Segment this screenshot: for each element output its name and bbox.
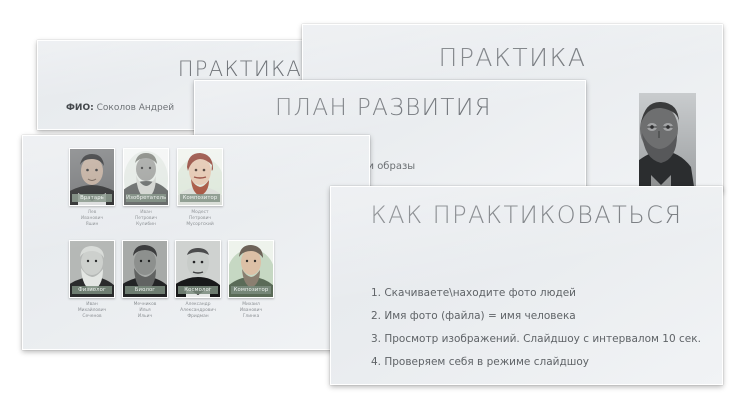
slide-title: ПЛАН РАЗВИТИЯ (275, 95, 492, 121)
howto-list: 1. Скачиваете\находите фото людей 2. Имя… (371, 282, 710, 374)
slide-title: ПРАКТИКА (303, 43, 722, 72)
photo-caption: Модест Петрович Мусоргский (186, 210, 213, 228)
photo-grid: Вратарь Лев Иванович Яшин (69, 148, 351, 323)
photo-frame: Вратарь (69, 148, 115, 206)
photo-cell[interactable]: Композитор Михаил Иванович Глинка (228, 240, 274, 320)
photo-caption: Михаил Иванович Глинка (240, 302, 262, 320)
list-item: 3. Просмотр изображений. Слайдшоу с инте… (371, 328, 710, 351)
photo-frame: Изобретатель (123, 148, 169, 206)
slide-photo-grid[interactable]: Вратарь Лев Иванович Яшин (22, 135, 370, 350)
photo-tag: Физиолог (72, 286, 112, 294)
photo-frame: Космолог (175, 240, 221, 298)
photo-frame: Композитор (228, 240, 274, 298)
list-item: 4. Проверяем себя в режиме слайдшоу (371, 351, 710, 374)
slide-title: КАК ПРАКТИКОВАТЬСЯ (331, 201, 722, 229)
slide-how-to-practice[interactable]: КАК ПРАКТИКОВАТЬСЯ 1. Скачиваете\находит… (330, 186, 723, 385)
photo-cell[interactable]: Композитор Модест Петрович Мусоргский (177, 148, 223, 228)
photo-tag: Композитор (231, 286, 271, 294)
photo-cell[interactable]: Физиолог Иван Михайлович Сеченов (69, 240, 115, 320)
photo-tag: Композитор (180, 194, 220, 202)
photo-caption: Мечников Илья Ильич (134, 302, 157, 320)
slide-title: ПРАКТИКА (178, 57, 302, 81)
list-item: 2. Имя фото (файла) = имя человека (371, 305, 710, 328)
portrait-photo (639, 93, 696, 192)
fio-line: ФИО: Соколов Андрей (66, 103, 174, 113)
list-item: 1. Скачиваете\находите фото людей (371, 282, 710, 305)
photo-caption: Иван Петрович Кулибин (135, 210, 157, 228)
photo-cell[interactable]: Биолог Мечников Илья Ильич (122, 240, 168, 320)
photo-caption: Александр Александрович Фридман (180, 302, 216, 320)
photo-frame: Биолог (122, 240, 168, 298)
photo-row: Физиолог Иван Михайлович Сеченов Био (69, 240, 351, 320)
photo-frame: Физиолог (69, 240, 115, 298)
photo-frame: Композитор (177, 148, 223, 206)
photo-cell[interactable]: Космолог Александр Александрович Фридман (175, 240, 221, 320)
fio-value: Соколов Андрей (97, 103, 175, 113)
photo-tag: Космолог (178, 286, 218, 294)
photo-caption: Иван Михайлович Сеченов (78, 302, 106, 320)
fio-label: ФИО: (66, 103, 94, 113)
photo-row: Вратарь Лев Иванович Яшин (69, 148, 351, 228)
photo-tag: Изобретатель (126, 194, 166, 202)
photo-cell[interactable]: Вратарь Лев Иванович Яшин (69, 148, 115, 228)
photo-tag: Вратарь (72, 194, 112, 202)
photo-tag: Биолог (125, 286, 165, 294)
photo-caption: Лев Иванович Яшин (81, 210, 103, 228)
photo-cell[interactable]: Изобретатель Иван Петрович Кулибин (123, 148, 169, 228)
portrait-illustration (639, 93, 696, 192)
